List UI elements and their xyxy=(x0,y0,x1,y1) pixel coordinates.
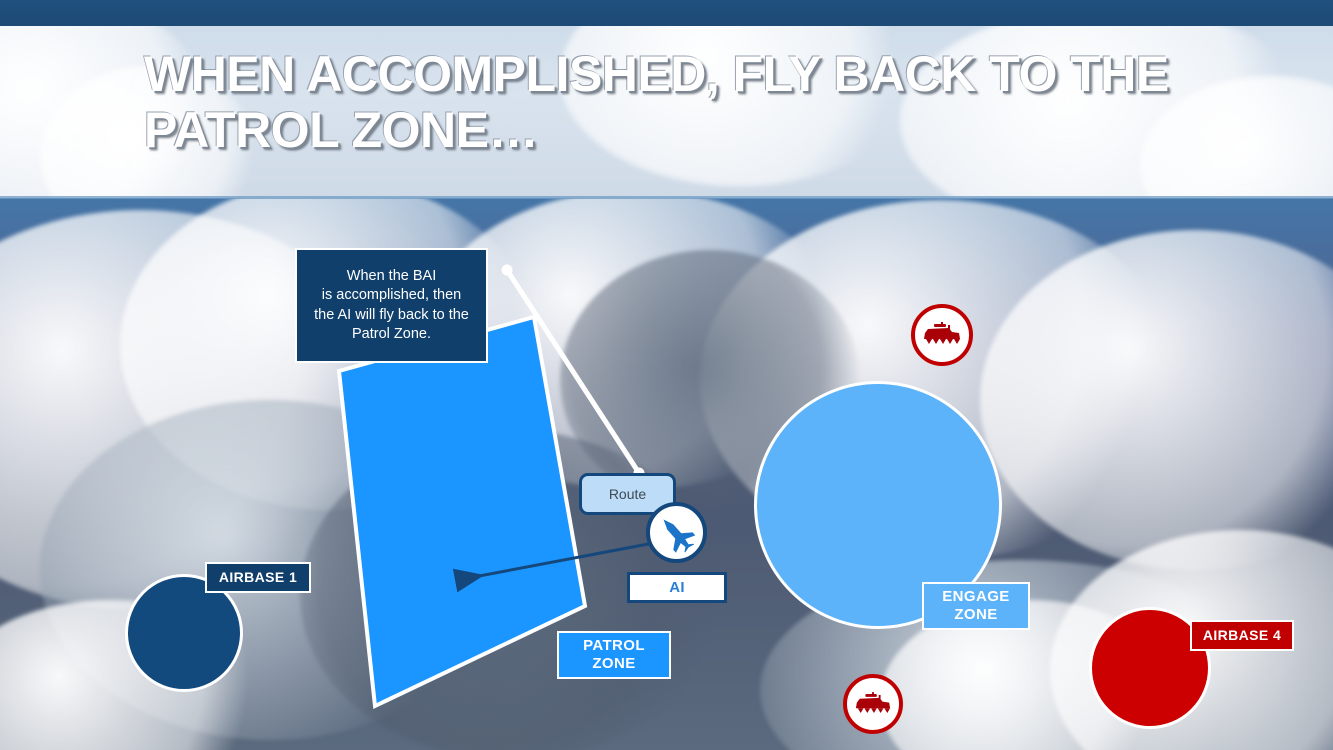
page-title: WHEN ACCOMPLISHED, FLY BACK TO THE PATRO… xyxy=(144,46,1244,158)
callout-line-4: Patrol Zone. xyxy=(314,325,469,344)
airbase-4-label[interactable]: AIRBASE 4 xyxy=(1190,620,1294,651)
slide-canvas: AIRBASE 1 AIRBASE 4 PATROL ZONE ENGAGE Z… xyxy=(0,0,1333,750)
engage-zone-label[interactable]: ENGAGE ZONE xyxy=(922,582,1030,630)
airbase-1-label[interactable]: AIRBASE 1 xyxy=(205,562,311,593)
route-leader-start-dot xyxy=(502,265,513,276)
callout-line-2: is accomplished, then xyxy=(314,286,469,305)
callout-line-3: the AI will fly back to the xyxy=(314,306,469,325)
header-divider xyxy=(0,196,1333,199)
engage-zone-label-line1: ENGAGE xyxy=(942,588,1009,606)
top-accent-bar xyxy=(0,0,1333,26)
page-title-line1: WHEN ACCOMPLISHED, FLY BACK TO THE xyxy=(144,46,1244,102)
patrol-zone-label-line2: ZONE xyxy=(583,655,645,673)
callout-line-1: When the BAI xyxy=(314,267,469,286)
route-leader-line xyxy=(507,270,639,473)
patrol-zone-label[interactable]: PATROL ZONE xyxy=(557,631,671,679)
engage-zone-label-line2: ZONE xyxy=(942,606,1009,624)
ai-label[interactable]: AI xyxy=(627,572,727,603)
patrol-zone-label-line1: PATROL xyxy=(583,637,645,655)
callout-box[interactable]: When the BAI is accomplished, then the A… xyxy=(295,248,488,363)
page-title-line2: PATROL ZONE… xyxy=(144,102,1244,158)
enemy-armor-icon[interactable] xyxy=(911,304,973,366)
enemy-armor-icon[interactable] xyxy=(843,674,903,734)
fighter-jet-icon[interactable] xyxy=(646,502,707,563)
